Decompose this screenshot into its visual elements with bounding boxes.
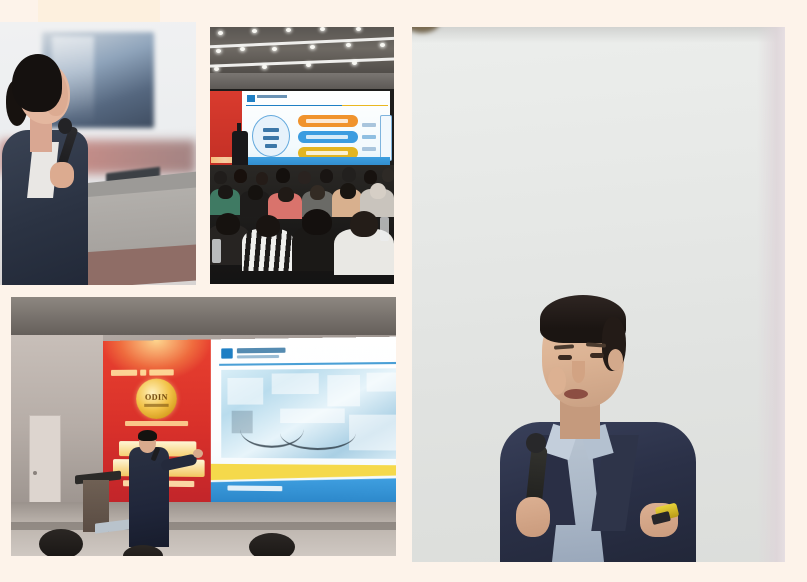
presenter-hand — [193, 449, 203, 458]
photo-stage-presenter[interactable]: ODIN — [11, 297, 396, 556]
banner-badge-caption — [125, 421, 188, 426]
audience — [210, 165, 394, 284]
slide-connector-label — [362, 135, 376, 139]
audience-head — [340, 183, 356, 199]
slide-center-oval — [252, 115, 290, 157]
speaker-eye-right — [590, 353, 604, 358]
door-handle-icon — [33, 471, 37, 475]
slide-right-column — [380, 115, 392, 161]
speaker-hand — [50, 162, 74, 188]
ceiling-light-icon — [310, 45, 315, 49]
microphone-head — [526, 433, 546, 453]
water-bottle — [380, 217, 389, 241]
ceiling-light-icon — [240, 47, 245, 51]
water-bottle — [212, 239, 221, 263]
slide-box-label — [306, 151, 348, 155]
slide-logo-text — [257, 95, 287, 98]
ceiling-light-icon — [352, 61, 357, 65]
speaker-mouth — [564, 389, 588, 399]
product-slide-panel — [211, 336, 396, 506]
ceiling-light-icon — [218, 31, 223, 35]
ceiling-light-icon — [252, 29, 257, 33]
ceiling-beam — [210, 57, 394, 68]
foreground-audience-head — [39, 529, 83, 556]
ceiling-light-icon — [306, 63, 311, 67]
audience-head — [218, 185, 233, 199]
ceiling-light-icon — [320, 27, 325, 31]
stage-edge — [11, 522, 396, 530]
wall-corner-edge — [757, 27, 785, 562]
ceiling-shadow-band — [11, 297, 396, 335]
banner-top-slogan — [111, 362, 203, 369]
audience-head — [216, 213, 240, 235]
audience-head — [256, 215, 280, 237]
company-logo-icon — [221, 348, 232, 358]
audience-head — [248, 185, 263, 200]
odin-logo-underline — [144, 404, 168, 407]
company-name-subtext — [237, 355, 279, 359]
machine-part — [349, 415, 396, 451]
slide-box-label — [306, 119, 348, 123]
slide-divider — [219, 362, 396, 365]
slide-box-orange — [298, 115, 358, 127]
ceiling-beam — [210, 36, 394, 48]
slide-divider-accent — [342, 105, 388, 106]
speaker-cheek — [548, 367, 566, 395]
audience-head — [256, 172, 268, 185]
ceiling-light-icon — [214, 67, 219, 71]
slide-box-label — [306, 135, 348, 139]
odin-logo-icon: ODIN — [136, 378, 177, 419]
slide-logo-icon — [247, 95, 255, 102]
presenter-hair — [138, 430, 157, 441]
ceiling-light-icon — [262, 65, 267, 69]
slide-box-blue — [298, 131, 358, 143]
audience-head — [342, 167, 356, 182]
machine-part — [367, 372, 396, 391]
oval-label-line — [265, 144, 277, 148]
photo-auditorium-audience[interactable]: Packed auditorium seen from behind the a… — [210, 27, 394, 284]
cable-icon — [280, 417, 355, 450]
photo-man-speaking-with-microphone[interactable]: Man in a navy blazer and light blue shir… — [412, 27, 785, 562]
ceiling-light-icon — [286, 28, 291, 32]
ceiling-light-icon — [272, 47, 277, 51]
audience-head — [234, 169, 247, 183]
speaker-eye-left — [558, 355, 572, 360]
slide-website-url — [227, 485, 282, 491]
ceiling-light-icon — [380, 43, 385, 47]
factory-equipment-photo — [221, 368, 396, 459]
ceiling-light-icon — [216, 49, 221, 53]
audience-head — [278, 187, 294, 202]
ceiling-light-icon — [346, 43, 351, 47]
speaker-left-hand — [516, 497, 550, 537]
speaker-ear — [608, 349, 623, 371]
audience-head — [310, 185, 325, 200]
audience-head — [370, 183, 386, 199]
machine-part — [272, 373, 319, 394]
slide-connector-label — [362, 123, 376, 127]
audience-head — [350, 211, 378, 237]
audience-head — [320, 169, 333, 183]
audience-head — [382, 168, 394, 182]
company-name-text — [237, 348, 286, 354]
ceiling-light-icon — [356, 27, 361, 31]
speaker-nose — [572, 361, 585, 383]
photo-collage: Woman in dark blue blazer speaking into … — [0, 0, 807, 582]
machine-part — [327, 375, 360, 407]
odin-logo-text: ODIN — [136, 393, 177, 402]
audience-head — [298, 171, 311, 184]
ceiling — [210, 27, 394, 75]
lectern-icon — [232, 131, 248, 169]
slide-connector-label — [362, 147, 376, 151]
audience-head — [214, 171, 227, 184]
foreground-audience-head — [249, 533, 295, 556]
audience-head — [364, 170, 377, 184]
audience-head — [276, 168, 290, 183]
photo-woman-speaker-at-podium[interactable]: Woman in dark blue blazer speaking into … — [0, 22, 196, 285]
oval-label-line — [263, 136, 279, 140]
oval-label-line — [263, 128, 279, 132]
wall-top-shadow — [412, 27, 785, 43]
audience-head — [302, 209, 332, 235]
speaker-hair — [12, 54, 62, 112]
microphone-head — [58, 118, 72, 134]
machine-part — [227, 378, 263, 405]
